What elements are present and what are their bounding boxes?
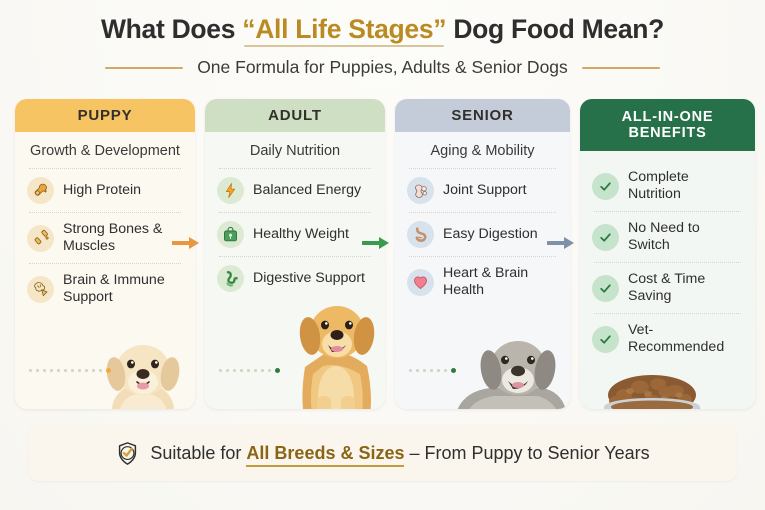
feature-row[interactable]: High Protein [15, 169, 195, 212]
check-icon [592, 224, 619, 251]
lightning-bolt-icon [217, 177, 244, 204]
arrow-senior-to-benefits [547, 235, 577, 251]
title-underline [244, 45, 444, 47]
feature-label: Strong Bones & Muscles [63, 221, 185, 255]
stomach-icon [407, 221, 434, 248]
benefit-label: Vet-Recommended [628, 322, 745, 356]
column-benefits-body: Complete Nutrition No Need to Switch Cos… [580, 151, 755, 409]
column-benefits-header: ALL-IN-ONE BENEFITS [580, 99, 755, 151]
column-adult-header: ADULT [205, 99, 385, 132]
footer-text: Suitable for All Breeds & Sizes – From P… [150, 443, 649, 464]
feature-row[interactable]: Joint Support [395, 169, 570, 212]
feature-label: Healthy Weight [253, 226, 349, 243]
column-benefits-header-line1: ALL-IN-ONE [622, 109, 714, 125]
column-senior[interactable]: SENIOR [395, 99, 570, 409]
intestine-icon [217, 265, 244, 292]
page-title: What Does “All Life Stages” Dog Food Mea… [0, 14, 765, 45]
column-puppy-body: Growth & Development High Protein Strong… [15, 132, 195, 409]
benefit-row[interactable]: Vet-Recommended [580, 314, 755, 364]
feature-row[interactable]: Digestive Support [205, 257, 385, 300]
column-adult-body: Daily Nutrition Balanced Energy Healthy … [205, 132, 385, 409]
column-puppy[interactable]: PUPPY [15, 99, 195, 409]
feature-label: Easy Digestion [443, 226, 538, 243]
weight-scale-icon [217, 221, 244, 248]
adult-golden-retriever-photo [275, 292, 385, 409]
footer-underline [246, 465, 404, 467]
column-benefits-header-line2: BENEFITS [628, 125, 706, 141]
column-adult[interactable]: ADULT [205, 99, 385, 409]
column-end-dots [219, 368, 280, 373]
title-part-1: What Does [101, 14, 242, 44]
meat-drumstick-icon [27, 177, 54, 204]
title-part-2: Dog Food Mean? [446, 14, 664, 44]
benefit-label: No Need to Switch [628, 220, 745, 254]
column-senior-subhead: Aging & Mobility [395, 132, 570, 168]
subtitle-rule-right [582, 67, 660, 69]
joint-bone-icon [407, 177, 434, 204]
feature-row[interactable]: Strong Bones & Muscles [15, 213, 195, 263]
feature-label: Brain & Immune Support [63, 272, 185, 306]
heart-icon [407, 269, 434, 296]
feature-row[interactable]: Balanced Energy [205, 169, 385, 212]
footer-text-part-1: Suitable for [150, 443, 246, 463]
column-end-dots [409, 368, 456, 373]
arrow-puppy-to-adult [172, 235, 202, 251]
subtitle-rule-left [105, 67, 183, 69]
column-senior-body: Aging & Mobility Joint Support Easy Dige… [395, 132, 570, 409]
feature-label: Balanced Energy [253, 182, 361, 199]
feature-label: Digestive Support [253, 270, 365, 287]
infographic-canvas: What Does “All Life Stages” Dog Food Mea… [0, 0, 765, 510]
bones-icon [27, 225, 54, 252]
column-senior-header: SENIOR [395, 99, 570, 132]
title-highlight-text: “All Life Stages” [242, 14, 446, 44]
feature-row[interactable]: Healthy Weight [205, 213, 385, 256]
footer-bold-label: All Breeds & Sizes [246, 443, 404, 463]
check-icon [592, 173, 619, 200]
arrow-adult-to-senior [362, 235, 392, 251]
feature-label: Heart & Brain Health [443, 265, 560, 299]
benefit-row[interactable]: Cost & Time Saving [580, 263, 755, 313]
footer-text-bold: All Breeds & Sizes [246, 443, 404, 463]
feature-row[interactable]: Heart & Brain Health [395, 257, 570, 307]
benefit-row[interactable]: No Need to Switch [580, 212, 755, 262]
footer-banner: Suitable for All Breeds & Sizes – From P… [28, 425, 737, 481]
column-puppy-subhead: Growth & Development [15, 132, 195, 168]
verified-badge-icon [115, 441, 140, 466]
benefit-row[interactable]: Complete Nutrition [580, 161, 755, 211]
column-benefits[interactable]: ALL-IN-ONE BENEFITS [580, 99, 755, 409]
benefit-label: Cost & Time Saving [628, 271, 745, 305]
feature-label: Joint Support [443, 182, 527, 199]
column-end-dots [29, 368, 111, 373]
footer-text-part-2: – From Puppy to Senior Years [404, 443, 649, 463]
feature-row[interactable]: Easy Digestion [395, 213, 570, 256]
subtitle: One Formula for Puppies, Adults & Senior… [197, 57, 568, 78]
brain-shield-icon [27, 276, 54, 303]
column-adult-subhead: Daily Nutrition [205, 132, 385, 168]
feature-row[interactable]: Brain & Immune Support [15, 264, 195, 314]
feature-label: High Protein [63, 182, 141, 199]
subtitle-row: One Formula for Puppies, Adults & Senior… [0, 57, 765, 78]
column-puppy-header: PUPPY [15, 99, 195, 132]
check-icon [592, 326, 619, 353]
check-icon [592, 275, 619, 302]
title-highlight: “All Life Stages” [242, 14, 446, 44]
benefit-label: Complete Nutrition [628, 169, 745, 203]
senior-grey-dog-photo [446, 326, 570, 409]
